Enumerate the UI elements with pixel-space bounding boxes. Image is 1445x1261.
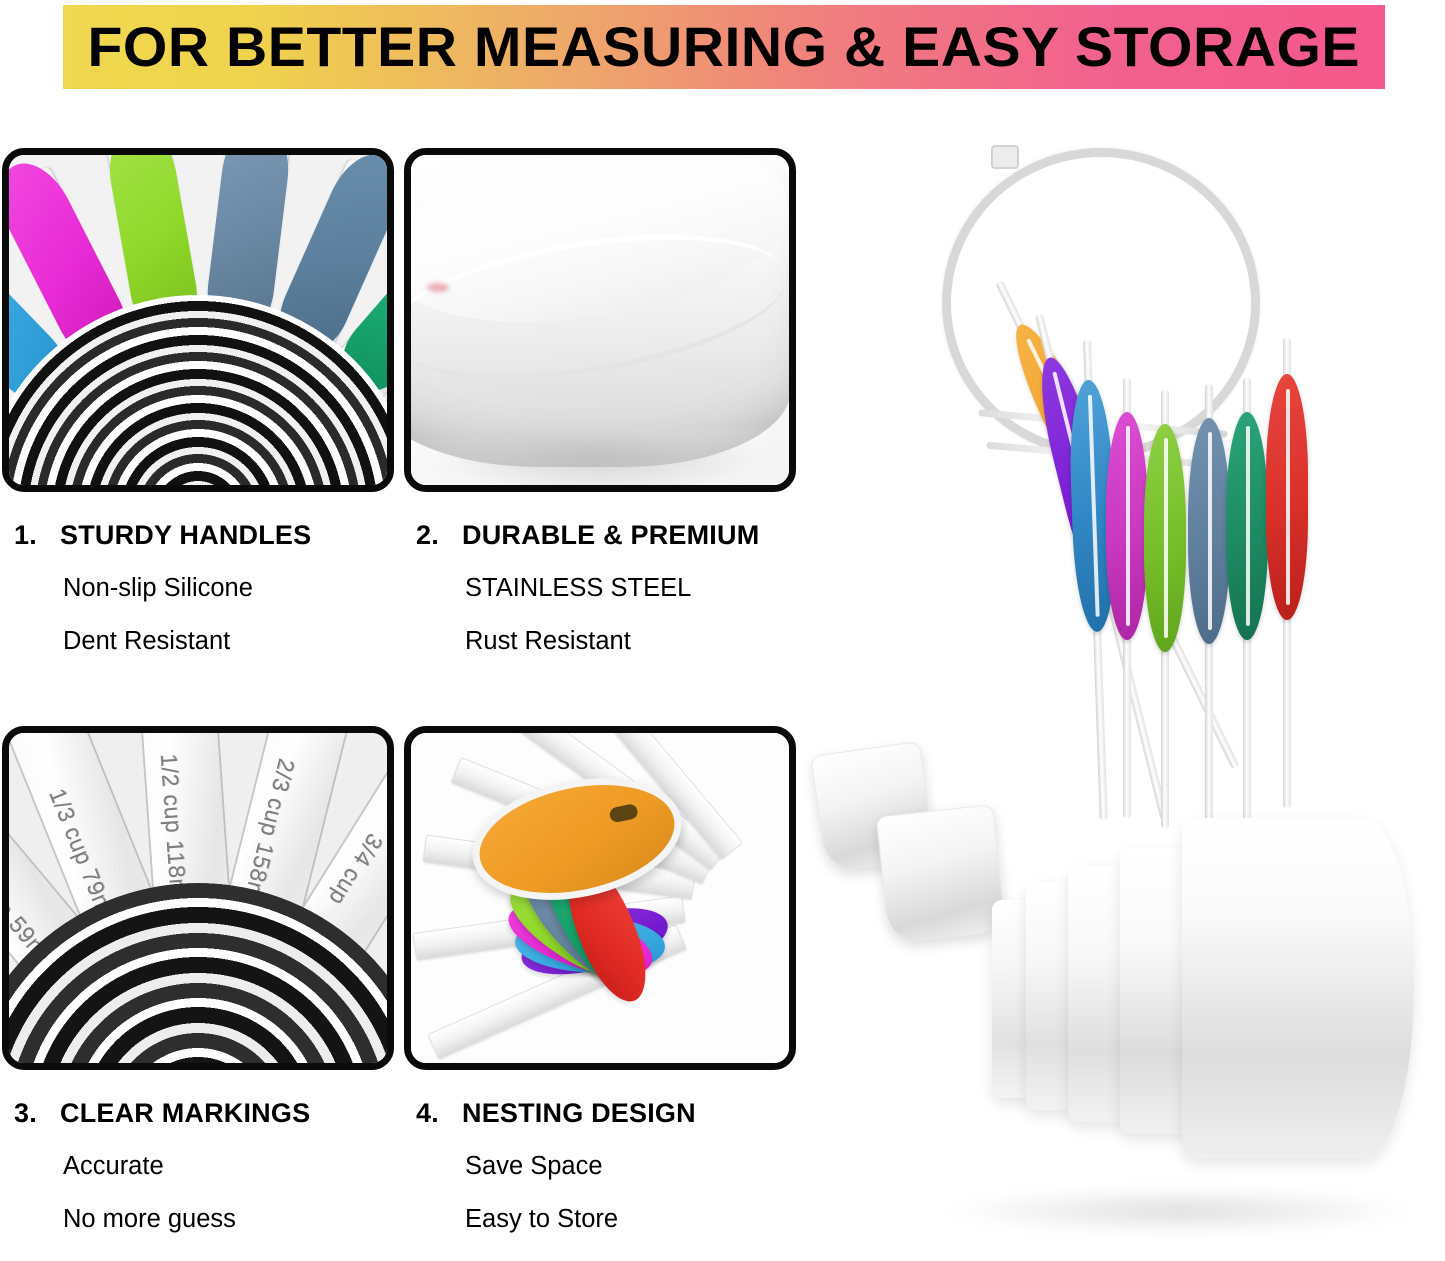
feature-number: 2. xyxy=(416,522,462,549)
feature-heading: 4.NESTING DESIGN xyxy=(416,1100,796,1127)
hero-product-image xyxy=(800,100,1445,1260)
feature-heading: 1.STURDY HANDLES xyxy=(14,522,394,549)
feature-image-panel-4 xyxy=(404,726,796,1070)
feature-number: 1. xyxy=(14,522,60,549)
stainless-steel-closeup-image xyxy=(411,155,789,485)
feature-line: Save Space xyxy=(416,1154,796,1180)
feature-item-sturdy-handles: 1/16 cup 15mL 1/8 cup 30mL 1/4 cup 59mL … xyxy=(2,148,394,654)
feature-line: Non-slip Silicone xyxy=(14,576,394,602)
feature-image-panel-3: 1/4 cup 59mL 1/3 cup 79mL 1/2 cup 118mL … xyxy=(2,726,394,1070)
nested-spoon-handles-image xyxy=(411,733,789,1063)
spoon-teal-green xyxy=(1226,378,1268,820)
feature-item-durable-premium: 2.DURABLE & PREMIUM STAINLESS STEEL Rust… xyxy=(404,148,796,654)
feature-item-clear-markings: 1/4 cup 59mL 1/3 cup 79mL 1/2 cup 118mL … xyxy=(2,726,394,1232)
feature-image-panel-1: 1/16 cup 15mL 1/8 cup 30mL 1/4 cup 59mL … xyxy=(2,148,394,492)
engraved-label: 3/4 cup xyxy=(323,829,387,911)
feature-line: STAINLESS STEEL xyxy=(416,576,796,602)
banner-title: FOR BETTER MEASURING & EASY STORAGE xyxy=(88,19,1361,75)
feature-heading-text: DURABLE & PREMIUM xyxy=(462,520,759,550)
feature-heading: 3.CLEAR MARKINGS xyxy=(14,1100,394,1127)
spoon-green xyxy=(1144,390,1186,828)
feature-line: Rust Resistant xyxy=(416,629,796,655)
feature-number: 4. xyxy=(416,1100,462,1127)
product-shadow xyxy=(950,1188,1410,1234)
feature-caption-4: 4.NESTING DESIGN Save Space Easy to Stor… xyxy=(404,1100,796,1232)
spoon-slate-blue xyxy=(1188,384,1230,824)
feature-heading: 2.DURABLE & PREMIUM xyxy=(416,522,796,549)
feature-number: 3. xyxy=(14,1100,60,1127)
feature-line: Accurate xyxy=(14,1154,394,1180)
feature-image-panel-2 xyxy=(404,148,796,492)
feature-heading-text: STURDY HANDLES xyxy=(60,520,311,550)
header-banner: FOR BETTER MEASURING & EASY STORAGE xyxy=(63,5,1385,89)
feature-line: No more guess xyxy=(14,1207,394,1233)
spoon-bowl-small xyxy=(876,804,1007,944)
engraved-markings-macro-image: 1/4 cup 59mL 1/3 cup 79mL 1/2 cup 118mL … xyxy=(9,733,387,1063)
spoon-magenta xyxy=(1106,378,1148,818)
measuring-cup-5-largest xyxy=(1182,818,1414,1158)
feature-caption-3: 3.CLEAR MARKINGS Accurate No more guess xyxy=(2,1100,394,1232)
feature-line: Easy to Store xyxy=(416,1207,796,1233)
feature-line: Dent Resistant xyxy=(14,629,394,655)
measuring-spoons-fan-image: 1/16 cup 15mL 1/8 cup 30mL 1/4 cup 59mL … xyxy=(9,155,387,485)
spoon-red xyxy=(1266,338,1308,808)
hanging-hole xyxy=(608,803,639,823)
feature-caption-2: 2.DURABLE & PREMIUM STAINLESS STEEL Rust… xyxy=(404,522,796,654)
feature-item-nesting-design: 4.NESTING DESIGN Save Space Easy to Stor… xyxy=(404,726,796,1232)
feature-grid: 1/16 cup 15mL 1/8 cup 30mL 1/4 cup 59mL … xyxy=(0,148,800,1258)
feature-heading-text: CLEAR MARKINGS xyxy=(60,1098,310,1128)
feature-heading-text: NESTING DESIGN xyxy=(462,1098,696,1128)
feature-caption-1: 1.STURDY HANDLES Non-slip Silicone Dent … xyxy=(2,522,394,654)
